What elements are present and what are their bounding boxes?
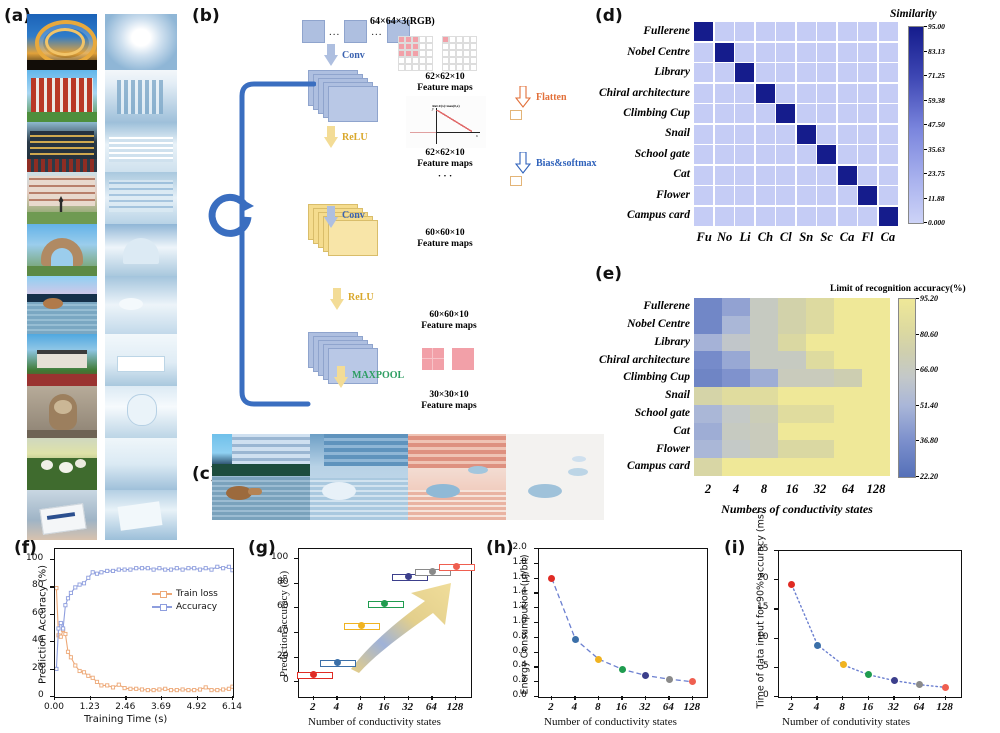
series-marker	[222, 688, 225, 691]
legend-marker	[160, 604, 167, 611]
heatmap-cell	[838, 125, 857, 144]
x-tick-label: 2	[539, 701, 563, 713]
x-tick	[668, 696, 669, 700]
fm1-line: 62×62×10 Feature maps	[417, 72, 473, 93]
heatmap-cell	[879, 63, 898, 82]
heatmap-cell	[756, 207, 775, 226]
heatmap-cell	[834, 334, 862, 352]
series-marker	[106, 684, 109, 687]
x-tick-label: 8	[830, 701, 854, 713]
feature-map-stack-1	[308, 70, 388, 122]
series-marker	[216, 565, 219, 568]
legend-label: Train loss	[176, 589, 218, 599]
fm3-line: 60×60×10 Feature maps	[417, 228, 473, 249]
x-tick-label: 128	[680, 701, 704, 713]
panel-e: (e) Limit of recognition accuracy(%) Ful…	[560, 262, 1000, 530]
x-tick	[842, 696, 843, 700]
panel-f: (f) 0204060801000.001.232.463.694.926.14…	[14, 534, 249, 733]
heatmap-cell	[694, 423, 722, 441]
heatmap-row-label: Fullerene	[580, 298, 690, 316]
panel-i-plot-frame	[778, 550, 962, 698]
legend-marker	[160, 591, 167, 598]
heatmap-cell	[862, 351, 890, 369]
conv2-label: Conv	[342, 210, 365, 221]
panel-c-feature-blue	[310, 434, 408, 520]
series-marker	[146, 567, 149, 570]
heatmap-cell	[806, 405, 834, 423]
loop-circular-arrow-icon	[204, 190, 258, 249]
input-caption: 64×64×3(RGB)	[370, 16, 490, 27]
heatmap-cell	[735, 125, 754, 144]
heatmap-cell	[778, 440, 806, 458]
heatmap-cell	[862, 405, 890, 423]
heatmap-cell	[797, 43, 816, 62]
x-tick-label: 16	[609, 701, 633, 713]
heatmap-cell	[838, 207, 857, 226]
heatmap-cell	[756, 22, 775, 41]
heatmap-col-label: 128	[862, 482, 890, 497]
input-square	[344, 20, 367, 43]
heatmap-cell	[694, 351, 722, 369]
series-marker	[169, 689, 172, 692]
heatmap-row-label: Library	[580, 334, 690, 352]
x-tick	[893, 696, 894, 700]
heatmap-cell	[750, 298, 778, 316]
panel-c-feature-red	[408, 434, 506, 520]
heatmap-cell	[778, 369, 806, 387]
feature-map-school-gate	[105, 334, 177, 386]
x-tick-label: 64	[419, 701, 443, 713]
x-tick-label: 3.69	[149, 702, 173, 712]
panel-e-label: (e)	[595, 264, 622, 284]
heatmap-cell	[694, 405, 722, 423]
heatmap-cell	[694, 63, 713, 82]
heatmap-cell	[715, 43, 734, 62]
y-tick	[294, 657, 298, 658]
heatmap-cell	[858, 104, 877, 123]
heatmap-cell	[817, 145, 836, 164]
heatmap-col-label: Sc	[816, 230, 836, 245]
panel-h-ylabel: Energy Consumpution (μJ/bit)	[520, 550, 531, 700]
panel-c-original-snail	[212, 434, 310, 520]
heatmap-cell	[735, 63, 754, 82]
relu-plot: ReLU(x)=max(0,x) y x	[406, 96, 486, 148]
y-tick	[294, 681, 298, 682]
data-point	[666, 676, 673, 683]
feature-map-climbing-cup	[105, 224, 177, 276]
series-marker	[129, 687, 132, 690]
panel-i-ylabel: Time of data input for 90% accuracy (ms)	[756, 539, 767, 709]
heatmap-row-label: Snail	[580, 387, 690, 405]
heatmap-cell	[834, 440, 862, 458]
heatmap-cell	[715, 84, 734, 103]
series-marker	[146, 689, 149, 692]
heatmap-cell	[722, 369, 750, 387]
heatmap-cell	[879, 84, 898, 103]
series-marker	[152, 689, 155, 692]
feature-map-campus-card	[105, 490, 177, 540]
heatmap-cell	[797, 166, 816, 185]
x-tick	[816, 696, 817, 700]
flatten-arrow	[515, 86, 531, 113]
colorbar-tick-label: 71.25	[928, 71, 945, 80]
panel-g-xlabel: Number of conductivity states	[308, 716, 441, 728]
x-tick-label: 4	[562, 701, 586, 713]
heatmap-cell	[722, 423, 750, 441]
heatmap-cell	[797, 125, 816, 144]
series-marker	[69, 656, 72, 659]
heatmap-cell	[722, 405, 750, 423]
heatmap-cell	[858, 145, 877, 164]
heatmap-cell	[715, 104, 734, 123]
heatmap-col-label: 8	[750, 482, 778, 497]
x-tick	[692, 696, 693, 700]
photo-chiral-architecture	[27, 172, 97, 224]
heatmap-cell	[735, 84, 754, 103]
heatmap-cell	[778, 298, 806, 316]
panel-d-col-labels: FuNoLiChClSnScCaFlCa	[694, 230, 898, 245]
heatmap-cell	[750, 334, 778, 352]
x-tick	[336, 696, 337, 700]
heatmap-row-label: Library	[580, 63, 690, 83]
series-marker	[193, 567, 196, 570]
series-marker	[117, 683, 120, 686]
x-tick	[791, 696, 792, 700]
heatmap-cell	[715, 63, 734, 82]
heatmap-cell	[879, 43, 898, 62]
maxpool-kernel-2x2	[422, 348, 444, 370]
x-tick	[197, 696, 198, 700]
heatmap-cell	[694, 22, 713, 41]
panel-e-colorbar-ticks: 95.2080.6066.0051.4036.8022.20	[920, 298, 980, 476]
heatmap-cell	[778, 458, 806, 476]
colorbar-tick-label: 59.38	[928, 96, 945, 105]
heatmap-cell	[834, 387, 862, 405]
heatmap-col-label: 4	[722, 482, 750, 497]
series-marker	[123, 568, 126, 571]
feature-map-5-caption: 30×30×10 Feature maps	[394, 390, 504, 412]
heatmap-cell	[834, 458, 862, 476]
series-marker	[62, 627, 65, 630]
y-tick	[534, 652, 538, 653]
heatmap-cell	[797, 145, 816, 164]
series-marker	[91, 571, 94, 574]
feature-map-chiral-architecture	[105, 172, 177, 224]
x-tick	[313, 696, 314, 700]
x-tick-label: 128	[933, 701, 957, 713]
series-marker	[198, 688, 201, 691]
heatmap-cell	[817, 186, 836, 205]
relu2-arrow	[330, 288, 344, 310]
maxpool-kernel-1x1	[452, 348, 474, 370]
photo-fullerene	[27, 14, 97, 70]
y-tick	[294, 583, 298, 584]
heatmap-row-label: Snail	[580, 124, 690, 144]
colorbar-tick-label: 11.88	[928, 194, 944, 203]
heatmap-cell	[715, 207, 734, 226]
y-tick	[50, 559, 54, 560]
heatmap-row-label: Cat	[580, 423, 690, 441]
relu1-arrow	[324, 126, 338, 148]
heatmap-cell	[862, 298, 890, 316]
heatmap-cell	[722, 458, 750, 476]
x-tick	[621, 696, 622, 700]
panel-e-colorbar-title: Limit of recognition accuracy(%)	[830, 284, 966, 294]
heatmap-cell	[817, 104, 836, 123]
y-tick	[50, 641, 54, 642]
series-marker	[152, 568, 155, 571]
heatmap-row-label: Climbing Cup	[580, 369, 690, 387]
series-marker	[210, 689, 213, 692]
panel-h-series-svg	[539, 549, 707, 697]
x-tick	[645, 696, 646, 700]
heatmap-cell	[817, 43, 836, 62]
heatmap-cell	[694, 43, 713, 62]
heatmap-col-label: Fl	[857, 230, 877, 245]
colorbar-tick-label: 80.60	[920, 330, 938, 339]
panel-a: (a)	[0, 0, 190, 530]
heatmap-col-label: Li	[735, 230, 755, 245]
heatmap-cell	[797, 63, 816, 82]
heatmap-cell	[862, 458, 890, 476]
kernel-grid-large	[398, 36, 433, 71]
legend-label: Accuracy	[176, 602, 217, 612]
heatmap-cell	[858, 43, 877, 62]
panel-i-xlabel: Number of condutivity states	[782, 716, 910, 728]
series-marker	[59, 621, 62, 624]
series-marker	[140, 688, 143, 691]
heatmap-cell	[722, 298, 750, 316]
heatmap-cell	[694, 458, 722, 476]
heatmap-cell	[838, 104, 857, 123]
legend-item: Train loss	[152, 589, 218, 599]
heatmap-cell	[797, 207, 816, 226]
y-tick	[774, 638, 778, 639]
heatmap-cell	[879, 207, 898, 226]
heatmap-cell	[838, 145, 857, 164]
heatmap-cell	[797, 186, 816, 205]
photo-flower	[27, 438, 97, 490]
relu-y-axis: y	[432, 106, 434, 111]
series-marker	[55, 667, 58, 670]
heatmap-col-label: 32	[806, 482, 834, 497]
heatmap-cell	[715, 22, 734, 41]
heatmap-cell	[862, 334, 890, 352]
x-tick	[868, 696, 869, 700]
panel-d-row-labels: FullereneNobel CentreLibraryChiral archi…	[580, 22, 690, 226]
heatmap-row-label: Flower	[580, 440, 690, 458]
panel-h-label: (h)	[486, 538, 514, 558]
heatmap-cell	[817, 63, 836, 82]
heatmap-cell	[694, 166, 713, 185]
series-marker	[231, 685, 233, 688]
heatmap-cell	[806, 351, 834, 369]
flatten-arrow-glyph	[515, 86, 531, 108]
heatmap-cell	[858, 84, 877, 103]
heatmap-cell	[862, 387, 890, 405]
feature-map-fullerene	[105, 14, 177, 70]
y-tick	[294, 558, 298, 559]
x-tick-label: 32	[633, 701, 657, 713]
series-marker	[227, 565, 230, 568]
colorbar-tick-label: 47.50	[928, 120, 945, 129]
heatmap-cell	[750, 423, 778, 441]
heatmap-cell	[735, 186, 754, 205]
series-marker	[169, 568, 172, 571]
panel-f-legend: Train lossAccuracy	[152, 589, 218, 615]
series-marker	[135, 567, 138, 570]
feature-map-2-caption: 62×62×10 Feature maps	[390, 148, 500, 170]
heatmap-cell	[862, 369, 890, 387]
relu1-label: ReLU	[342, 132, 368, 143]
heatmap-col-label: Ca	[878, 230, 898, 245]
heatmap-cell	[838, 63, 857, 82]
heatmap-col-label: Sn	[796, 230, 816, 245]
series-marker	[231, 569, 233, 572]
x-tick-label: 32	[396, 701, 420, 713]
x-tick-label: 2	[779, 701, 803, 713]
heatmap-cell	[750, 369, 778, 387]
heatmap-cell	[694, 334, 722, 352]
heatmap-cell	[750, 351, 778, 369]
panel-h-xlabel: Number of conductivity states	[544, 716, 677, 728]
heatmap-cell	[778, 334, 806, 352]
colorbar-tick-label: 0.000	[928, 218, 945, 227]
panel-g-ylabel: Prediction accuracy (%)	[278, 554, 290, 694]
series-marker	[66, 597, 69, 600]
heatmap-cell	[834, 423, 862, 441]
panel-a-photo-column	[27, 14, 97, 540]
series-marker	[111, 569, 114, 572]
panel-g: (g) 020406080100248163264128 Number of c…	[248, 534, 486, 733]
heatmap-cell	[834, 405, 862, 423]
series-marker	[158, 567, 161, 570]
data-point	[453, 563, 460, 570]
relu-plot-title: ReLU(x)=max(0,x)	[406, 104, 486, 108]
x-tick-label: 64	[656, 701, 680, 713]
heatmap-cell	[722, 351, 750, 369]
heatmap-col-label: Ca	[837, 230, 857, 245]
heatmap-cell	[817, 22, 836, 41]
y-tick	[774, 550, 778, 551]
heatmap-cell	[722, 334, 750, 352]
heatmap-cell	[694, 207, 713, 226]
x-tick	[360, 696, 361, 700]
heatmap-cell	[778, 387, 806, 405]
heatmap-row-label: Fullerene	[580, 22, 690, 42]
x-tick	[455, 696, 456, 700]
panel-f-series-svg	[55, 549, 233, 697]
series-marker	[140, 567, 143, 570]
heatmap-cell	[834, 351, 862, 369]
series-marker	[187, 567, 190, 570]
data-point	[405, 573, 412, 580]
y-tick	[774, 579, 778, 580]
input-square	[302, 20, 325, 43]
panel-i: (i) 0510152025248163264128 Number of con…	[724, 534, 1000, 733]
panel-e-colorbar	[898, 298, 916, 478]
heatmap-cell	[806, 334, 834, 352]
heatmap-cell	[776, 166, 795, 185]
heatmap-cell	[756, 104, 775, 123]
heatmap-cell	[694, 440, 722, 458]
series-marker	[175, 567, 178, 570]
panel-d-colorbar-ticks: 95.0083.1371.2559.3847.5035.6323.7511.88…	[928, 26, 988, 222]
y-tick	[50, 669, 54, 670]
data-point	[619, 666, 626, 673]
circular-arrow-glyph	[204, 190, 258, 244]
series-marker	[66, 650, 69, 653]
legend-item: Accuracy	[152, 602, 218, 612]
heatmap-cell	[715, 166, 734, 185]
heatmap-cell	[776, 186, 795, 205]
heatmap-cell	[694, 145, 713, 164]
x-tick-label: 8	[348, 701, 372, 713]
colorbar-tick-label: 23.75	[928, 169, 945, 178]
x-tick-label: 4	[324, 701, 348, 713]
x-tick	[90, 696, 91, 700]
heatmap-cell	[694, 186, 713, 205]
photo-snail	[27, 276, 97, 334]
series-marker	[181, 568, 184, 571]
series-marker	[55, 587, 58, 590]
photo-library	[27, 122, 97, 172]
panel-b-label: (b)	[192, 6, 220, 26]
heatmap-cell	[879, 166, 898, 185]
heatmap-cell	[838, 186, 857, 205]
x-tick	[945, 696, 946, 700]
x-tick	[574, 696, 575, 700]
heatmap-col-label: Ch	[755, 230, 775, 245]
series-marker	[87, 674, 90, 677]
y-tick	[50, 614, 54, 615]
heatmap-cell	[862, 423, 890, 441]
data-point	[840, 661, 847, 668]
heatmap-cell	[806, 387, 834, 405]
heatmap-cell	[879, 22, 898, 41]
x-tick-label: 16	[372, 701, 396, 713]
heatmap-cell	[735, 207, 754, 226]
photo-climbing-cup	[27, 224, 97, 276]
series-marker	[117, 568, 120, 571]
heatmap-col-label: 2	[694, 482, 722, 497]
colorbar-tick-label: 35.63	[928, 145, 945, 154]
series-marker	[181, 688, 184, 691]
heatmap-cell	[858, 125, 877, 144]
heatmap-cell	[806, 458, 834, 476]
kernel-grid-small	[442, 36, 477, 71]
series-marker	[222, 567, 225, 570]
heatmap-cell	[756, 145, 775, 164]
heatmap-cell	[858, 207, 877, 226]
heatmap-cell	[817, 207, 836, 226]
x-tick-label: 32	[881, 701, 905, 713]
series-marker	[164, 568, 167, 571]
data-point	[358, 622, 365, 629]
panel-d: (d) Similarity FullereneNobel CentreLibr…	[560, 0, 1000, 262]
heatmap-col-label: No	[714, 230, 734, 245]
series-marker	[164, 687, 167, 690]
x-tick-label: 2	[301, 701, 325, 713]
heatmap-cell	[750, 316, 778, 334]
series-marker	[69, 591, 72, 594]
x-tick	[919, 696, 920, 700]
panel-f-ylabel: Prediction Accuracy (%)	[38, 550, 49, 700]
heatmap-cell	[806, 298, 834, 316]
heatmap-row-label: Chiral architecture	[580, 83, 690, 103]
series-marker	[204, 567, 207, 570]
y-tick	[534, 637, 538, 638]
